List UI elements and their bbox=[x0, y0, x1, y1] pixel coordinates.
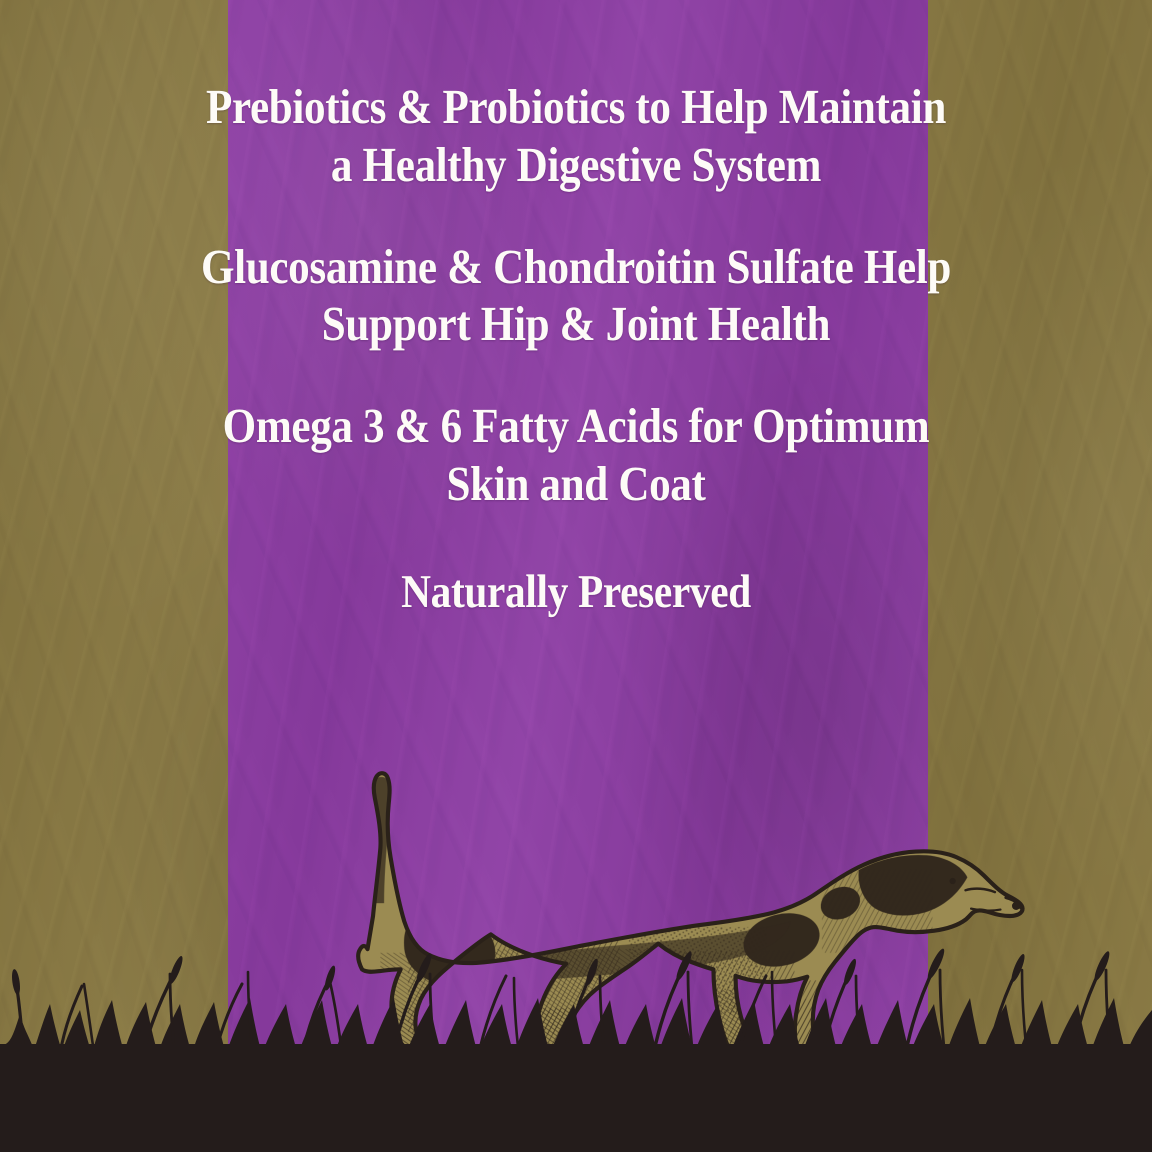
claim-naturally-preserved-line-1: Naturally Preserved bbox=[136, 565, 1016, 620]
claim-hip-joint: Glucosamine & Chondroitin Sulfate Help S… bbox=[136, 238, 1016, 354]
claim-skin-coat: Omega 3 & 6 Fatty Acids for Optimum Skin… bbox=[136, 397, 1016, 513]
claim-naturally-preserved: Naturally Preserved bbox=[136, 565, 1016, 620]
benefit-claims-list: Prebiotics & Probiotics to Help Maintain… bbox=[0, 0, 1152, 620]
product-benefits-graphic: Prebiotics & Probiotics to Help Maintain… bbox=[0, 0, 1152, 1152]
ground-silhouette bbox=[0, 1044, 1152, 1152]
claim-hip-joint-line-2: Support Hip & Joint Health bbox=[136, 295, 1016, 353]
claim-skin-coat-line-2: Skin and Coat bbox=[136, 455, 1016, 513]
claim-hip-joint-line-1: Glucosamine & Chondroitin Sulfate Help bbox=[136, 238, 1016, 296]
claim-skin-coat-line-1: Omega 3 & 6 Fatty Acids for Optimum bbox=[136, 397, 1016, 455]
claim-digestive: Prebiotics & Probiotics to Help Maintain… bbox=[136, 78, 1016, 194]
claim-digestive-line-1: Prebiotics & Probiotics to Help Maintain bbox=[136, 78, 1016, 136]
claim-digestive-line-2: a Healthy Digestive System bbox=[136, 136, 1016, 194]
